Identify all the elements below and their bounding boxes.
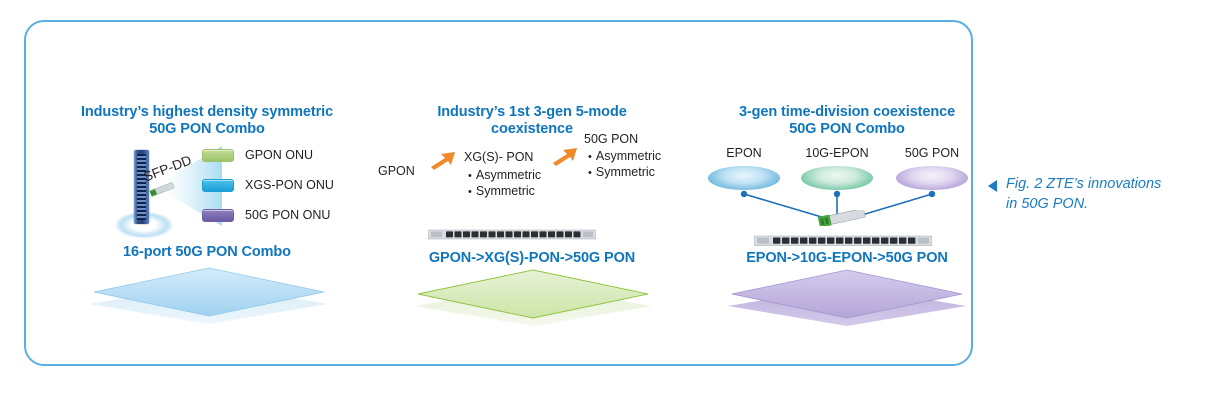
panel-1-title: Industry’s highest density symmetric 50G… [52,104,362,138]
evolution-flow-diagram: GPON XG(S)- PON Asymmetric Symmetric 50G… [372,130,692,220]
module-port-slots [137,154,146,220]
combo-transceiver-icon [818,210,866,226]
stage-50g-pon-bullet-2: Symmetric [588,165,655,179]
stage-xgs-pon-bullet-1: Asymmetric [468,168,541,182]
stage-gpon-label: GPON [378,164,415,178]
figure-frame: Industry’s highest density symmetric 50G… [24,20,973,366]
gpon-onu-label: GPON ONU [245,148,313,162]
xgs-pon-onu-label: XGS-PON ONU [245,178,334,192]
legend-item-xgs-pon-onu: XGS-PON ONU [202,170,334,200]
stage-50g-pon-head: 50G PON [584,132,638,146]
figure-caption: Fig. 2 ZTE’s innovations in 50G PON. [1006,174,1202,214]
arrow-right-up-icon-2 [552,146,578,166]
node-ellipse-epon [708,166,780,190]
panel-3gen-5mode-coexistence: Industry’s 1st 3-gen 5-mode coexistence … [372,22,692,364]
xgs-pon-onu-swatch [202,179,234,192]
stage-xgs-pon-head: XG(S)- PON [464,150,533,164]
figure-caption-line2: in 50G PON. [1006,194,1202,214]
node-label-epon: EPON [706,146,782,160]
fiftyg-pon-onu-swatch [202,209,234,222]
legend-item-50g-pon-onu: 50G PON ONU [202,200,334,230]
stage-50g-pon-bullet-1: Asymmetric [588,149,661,163]
panel-1-title-line1: Industry’s highest density symmetric [52,104,362,121]
node-label-10g-epon: 10G-EPON [792,146,882,160]
panel-2-title-line1: Industry’s 1st 3-gen 5-mode [372,104,692,121]
panel-highest-density-combo: Industry’s highest density symmetric 50G… [52,22,362,364]
panel-2-platform [414,268,652,332]
panel-1-title-line2: 50G PON Combo [52,121,362,138]
node-label-50g-pon: 50G PON [890,146,974,160]
arrow-right-up-icon-1 [430,150,456,170]
panel-2-footer-label: GPON->XG(S)-PON->50G PON [372,250,692,266]
caption-left-arrow-icon [988,180,997,192]
panel-3-title-line2: 50G PON Combo [692,121,1002,138]
node-ellipse-10g-epon [801,166,873,190]
gpon-onu-swatch [202,149,234,162]
panel-3-title: 3-gen time-division coexistence 50G PON … [692,104,1002,138]
panel-3-platform [728,268,966,332]
stage-xgs-pon-bullet-2: Symmetric [468,184,535,198]
panel-3-line-card [754,234,932,248]
panel-3-footer-label: EPON->10G-EPON->50G PON [692,250,1002,266]
panel-time-division-coexistence: 3-gen time-division coexistence 50G PON … [692,22,1002,364]
figure-caption-line1: Fig. 2 ZTE’s innovations [1006,174,1202,194]
onu-legend: GPON ONU XGS-PON ONU 50G PON ONU [202,140,334,230]
panel-2-line-card [428,228,596,242]
legend-item-gpon-onu: GPON ONU [202,140,334,170]
panel-3-title-line1: 3-gen time-division coexistence [692,104,1002,121]
fiftyg-pon-onu-label: 50G PON ONU [245,208,330,222]
node-ellipse-50g-pon [896,166,968,190]
panel-1-footer-label: 16-port 50G PON Combo [52,244,362,260]
panel-1-platform [90,266,328,330]
